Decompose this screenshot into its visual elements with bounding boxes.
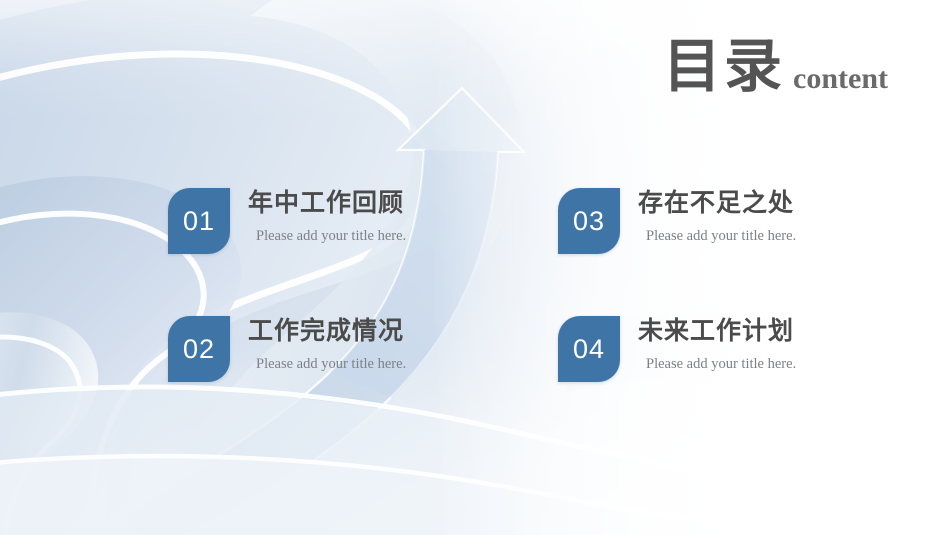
item-subtitle: Please add your title here. [638, 354, 796, 375]
item-number-badge: 04 [558, 316, 620, 382]
page-title: 目录 content [663, 38, 888, 96]
item-text-block: 年中工作回顾 Please add your title here. [248, 188, 406, 247]
slide-root: 目录 content 01 年中工作回顾 Please add your tit… [0, 0, 950, 535]
item-subtitle: Please add your title here. [248, 226, 406, 247]
item-number-badge: 03 [558, 188, 620, 254]
item-text-block: 存在不足之处 Please add your title here. [638, 188, 796, 247]
item-number-label: 01 [183, 208, 215, 235]
ribbon-shape-3 [0, 312, 98, 535]
item-number-label: 02 [183, 336, 215, 363]
page-title-cn: 目录 [663, 38, 785, 96]
contents-list: 01 年中工作回顾 Please add your title here. 03… [168, 188, 908, 444]
item-subtitle: Please add your title here. [248, 354, 406, 375]
page-title-en: content [793, 64, 888, 94]
contents-item-01[interactable]: 01 年中工作回顾 Please add your title here. [168, 188, 558, 316]
item-heading: 存在不足之处 [638, 190, 796, 219]
item-text-block: 未来工作计划 Please add your title here. [638, 316, 796, 375]
item-heading: 年中工作回顾 [248, 190, 406, 219]
item-number-badge: 02 [168, 316, 230, 382]
ribbon-outline-3 [0, 337, 80, 535]
contents-item-02[interactable]: 02 工作完成情况 Please add your title here. [168, 316, 558, 444]
item-number-badge: 01 [168, 188, 230, 254]
contents-item-03[interactable]: 03 存在不足之处 Please add your title here. [558, 188, 908, 316]
contents-item-04[interactable]: 04 未来工作计划 Please add your title here. [558, 316, 908, 444]
item-text-block: 工作完成情况 Please add your title here. [248, 316, 406, 375]
item-number-label: 04 [573, 336, 605, 363]
bottom-band-2 [0, 458, 950, 535]
item-subtitle: Please add your title here. [638, 226, 796, 247]
item-number-label: 03 [573, 208, 605, 235]
bottom-band-outline-2 [0, 456, 950, 535]
item-heading: 未来工作计划 [638, 318, 796, 347]
item-heading: 工作完成情况 [248, 318, 406, 347]
